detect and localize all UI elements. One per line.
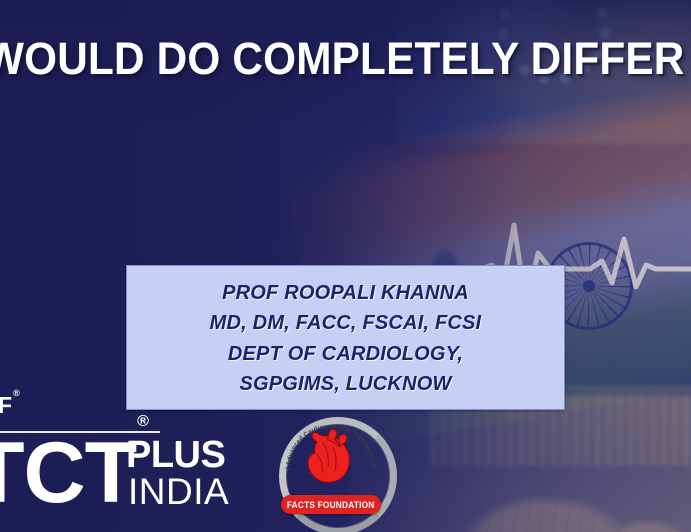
tct-registered-icon: ® <box>137 413 148 430</box>
tct-text: TCT <box>0 425 136 521</box>
speaker-credentials: MD, DM, FACC, FSCAI, FCSI <box>210 309 482 337</box>
crf-text: F <box>0 392 13 418</box>
crf-wordmark: F® <box>0 394 21 417</box>
speaker-department: DEPT OF CARDIOLOGY, <box>228 340 463 368</box>
facts-foundation-banner: FACTS FOUNDATION <box>281 495 381 514</box>
india-wordmark: INDIA <box>128 473 229 510</box>
presentation-slide: WOULD DO COMPLETELY DIFFER PROF ROOPALI … <box>0 0 691 532</box>
facts-foundation-label: FACTS FOUNDATION <box>287 500 375 510</box>
plus-wordmark: PLUS <box>126 436 225 474</box>
slide-headline: WOULD DO COMPLETELY DIFFER <box>0 36 691 81</box>
speaker-name: PROF ROOPALI KHANNA <box>222 279 469 307</box>
anatomical-heart-icon <box>303 427 359 487</box>
tct-plus-india-logo: F® TCT® PLUS INDIA <box>0 394 236 526</box>
tct-wordmark: TCT® <box>0 430 147 516</box>
facts-foundation-logo: Fraternity of Advanced Cardiovascular Te… <box>272 417 390 529</box>
crf-registered-icon: ® <box>13 388 21 398</box>
speaker-info-box: PROF ROOPALI KHANNA MD, DM, FACC, FSCAI,… <box>126 265 565 410</box>
speaker-institution: SGPGIMS, LUCKNOW <box>239 370 451 398</box>
